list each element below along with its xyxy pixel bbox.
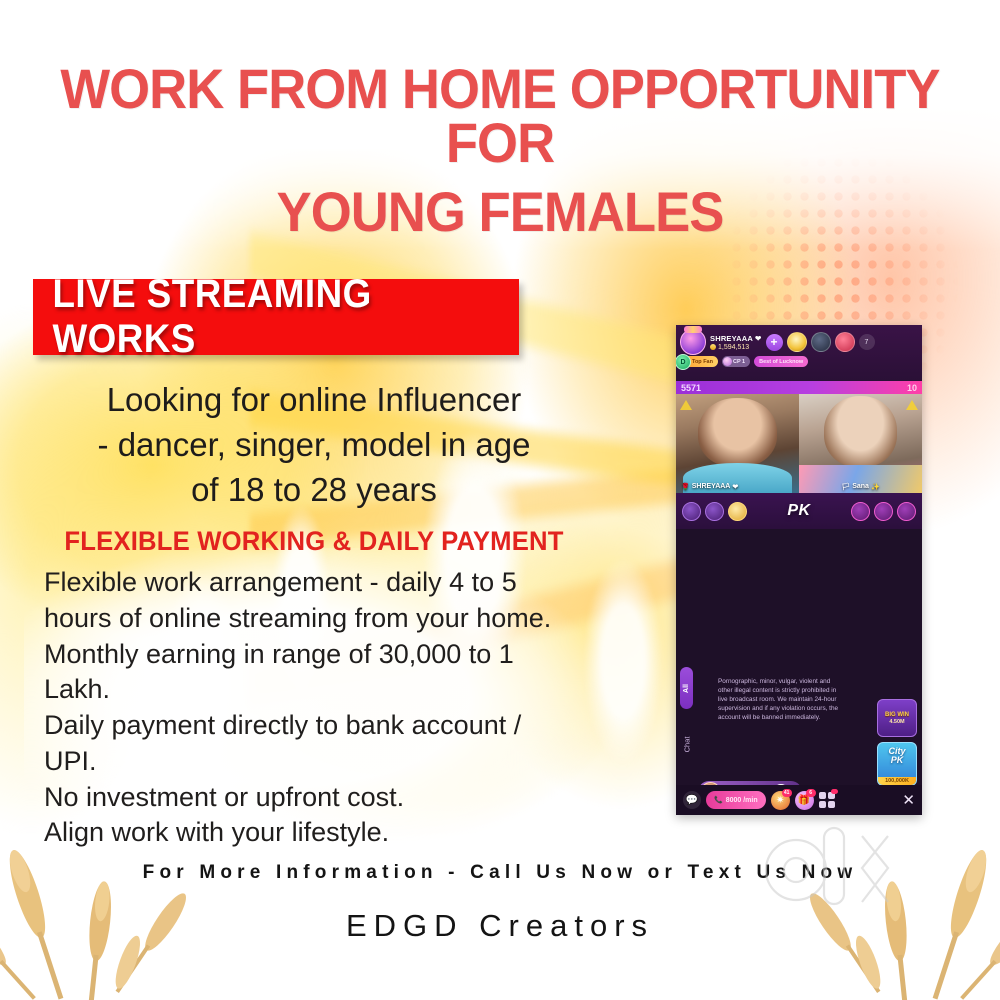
promo-column: BIG WIN 4.50M City PK 100,000K: [877, 699, 917, 786]
top-gifter-avatar-1[interactable]: [787, 332, 807, 352]
host-avatar[interactable]: [680, 329, 706, 355]
intro-line-3: of 18 to 28 years: [28, 468, 600, 513]
intro-line-1: Looking for online Influencer: [28, 378, 600, 423]
close-icon[interactable]: ✕: [902, 793, 915, 808]
host-coin-count: 1,594,513: [710, 344, 762, 351]
host-name: SHREYAAA ❤: [710, 334, 762, 343]
host-info-row: SHREYAAA ❤ 1,594,513 + 7: [680, 329, 875, 355]
detail-line: hours of online streaming from your home…: [44, 602, 604, 636]
city-pk-value: 100,000K: [878, 777, 916, 785]
details-paragraph: Flexible work arrangement - daily 4 to 5…: [44, 566, 604, 852]
intro-line-2: - dancer, singer, model in age: [28, 423, 600, 468]
big-win-title: BIG WIN: [885, 712, 909, 718]
headline-line-1: WORK FROM HOME OPPORTUNITY FOR: [60, 57, 939, 174]
live-streaming-banner-label: LIVE STREAMING WORKS: [52, 272, 499, 362]
call-rate-button[interactable]: 📞 8000 /min: [706, 791, 766, 809]
firework-badge: 41: [782, 789, 792, 797]
gift-box-icon[interactable]: 🎁 6: [795, 791, 814, 810]
streamer-name-right: 🏳 Sana ✨: [799, 480, 922, 493]
live-streaming-banner: LIVE STREAMING WORKS: [33, 279, 519, 355]
subheading-flexible-working: FLEXIBLE WORKING & DAILY PAYMENT: [42, 526, 585, 557]
grid-apps-icon[interactable]: [819, 792, 835, 808]
intro-block: Looking for online Influencer - dancer, …: [28, 378, 600, 513]
supporter-avatar[interactable]: [682, 502, 701, 521]
follow-host-button[interactable]: +: [766, 334, 783, 351]
detail-line: Align work with your lifestyle.: [44, 816, 604, 850]
detail-line: Monthly earning in range of 30,000 to 1: [44, 638, 604, 672]
detail-line: Daily payment directly to bank account /: [44, 709, 604, 743]
warning-icon: [906, 400, 918, 410]
pk-score-bar: 5571 10: [676, 381, 922, 394]
gift-badge: 6: [806, 789, 816, 797]
pk-label: PK: [787, 502, 810, 520]
top-gifter-avatar-2[interactable]: [811, 332, 831, 352]
viewer-count-badge[interactable]: 7: [859, 334, 875, 350]
flag-icon: 🏳: [841, 483, 850, 491]
detail-line: Lakh.: [44, 673, 604, 707]
rank-badge[interactable]: Top Fan: [680, 356, 718, 367]
supporters-left: [682, 502, 747, 521]
score-right: 10: [907, 383, 917, 393]
tab-all[interactable]: All: [680, 667, 693, 709]
score-left: 5571: [681, 383, 701, 393]
top-gifter-avatar-3[interactable]: [835, 332, 855, 352]
supporters-right: [851, 502, 916, 521]
headline-line-2: YOUNG FEMALES: [30, 185, 970, 239]
city-pk-promo[interactable]: City PK 100,000K: [877, 742, 917, 786]
poster-canvas: WORK FROM HOME OPPORTUNITY FOR YOUNG FEM…: [0, 0, 1000, 1000]
stream-top-bar: SHREYAAA ❤ 1,594,513 + 7 Top Fan CP 1 Be: [676, 325, 922, 381]
olx-watermark: [762, 822, 912, 910]
detail-line: Flexible work arrangement - daily 4 to 5: [44, 566, 604, 600]
big-win-value: 4.50M: [889, 719, 904, 725]
detail-line: UPI.: [44, 745, 604, 779]
heart-icon: ❤: [732, 483, 738, 491]
grid-badge: [831, 789, 838, 794]
coin-icon: [710, 344, 716, 350]
supporter-avatar[interactable]: [728, 502, 747, 521]
host-details: SHREYAAA ❤ 1,594,513: [710, 334, 762, 351]
cp-badge[interactable]: CP 1: [722, 356, 750, 367]
live-stream-app-screenshot: SHREYAAA ❤ 1,594,513 + 7 Top Fan CP 1 Be: [676, 325, 922, 815]
tab-chat[interactable]: Chat: [680, 727, 693, 761]
streamer-name-bar: 🌹 SHREYAAA ❤ 🏳 Sana ✨: [676, 480, 922, 493]
supporter-avatar[interactable]: [851, 502, 870, 521]
firework-gift-icon[interactable]: ✷ 41: [771, 791, 790, 810]
supporter-avatar[interactable]: [874, 502, 893, 521]
city-pk-line-2: PK: [891, 756, 904, 765]
sparkle-icon: ✨: [871, 483, 880, 491]
pk-video-panes: [676, 394, 922, 493]
warning-icon: [680, 400, 692, 410]
big-win-promo[interactable]: BIG WIN 4.50M: [877, 699, 917, 737]
city-badge[interactable]: Best of Lucknow: [754, 356, 808, 367]
supporter-avatar[interactable]: [705, 502, 724, 521]
video-pane-right[interactable]: [799, 394, 922, 493]
video-pane-left[interactable]: [676, 394, 799, 493]
brand-name: EDGD Creators: [0, 908, 1000, 944]
stream-bottom-bar: 💬 📞 8000 /min ✷ 41 🎁 6 ✕: [676, 785, 922, 815]
content-policy-warning: Pornographic, minor, vulgar, violent and…: [718, 677, 846, 722]
streamer-name-left: 🌹 SHREYAAA ❤: [676, 480, 799, 493]
chat-area: All Chat Pornographic, minor, vulgar, vi…: [676, 529, 922, 815]
rose-icon: 🌹: [681, 483, 690, 491]
pk-supporters-strip: PK: [676, 493, 922, 529]
heart-icon: ❤: [755, 334, 761, 343]
page-title: WORK FROM HOME OPPORTUNITY FOR YOUNG FEM…: [30, 62, 970, 239]
badge-row: Top Fan CP 1 Best of Lucknow: [680, 356, 808, 367]
phone-icon: 📞: [714, 796, 723, 804]
supporter-avatar[interactable]: [897, 502, 916, 521]
chat-bubble-icon[interactable]: 💬: [683, 791, 701, 809]
call-rate-label: 8000 /min: [726, 797, 758, 804]
detail-line: No investment or upfront cost.: [44, 781, 604, 815]
